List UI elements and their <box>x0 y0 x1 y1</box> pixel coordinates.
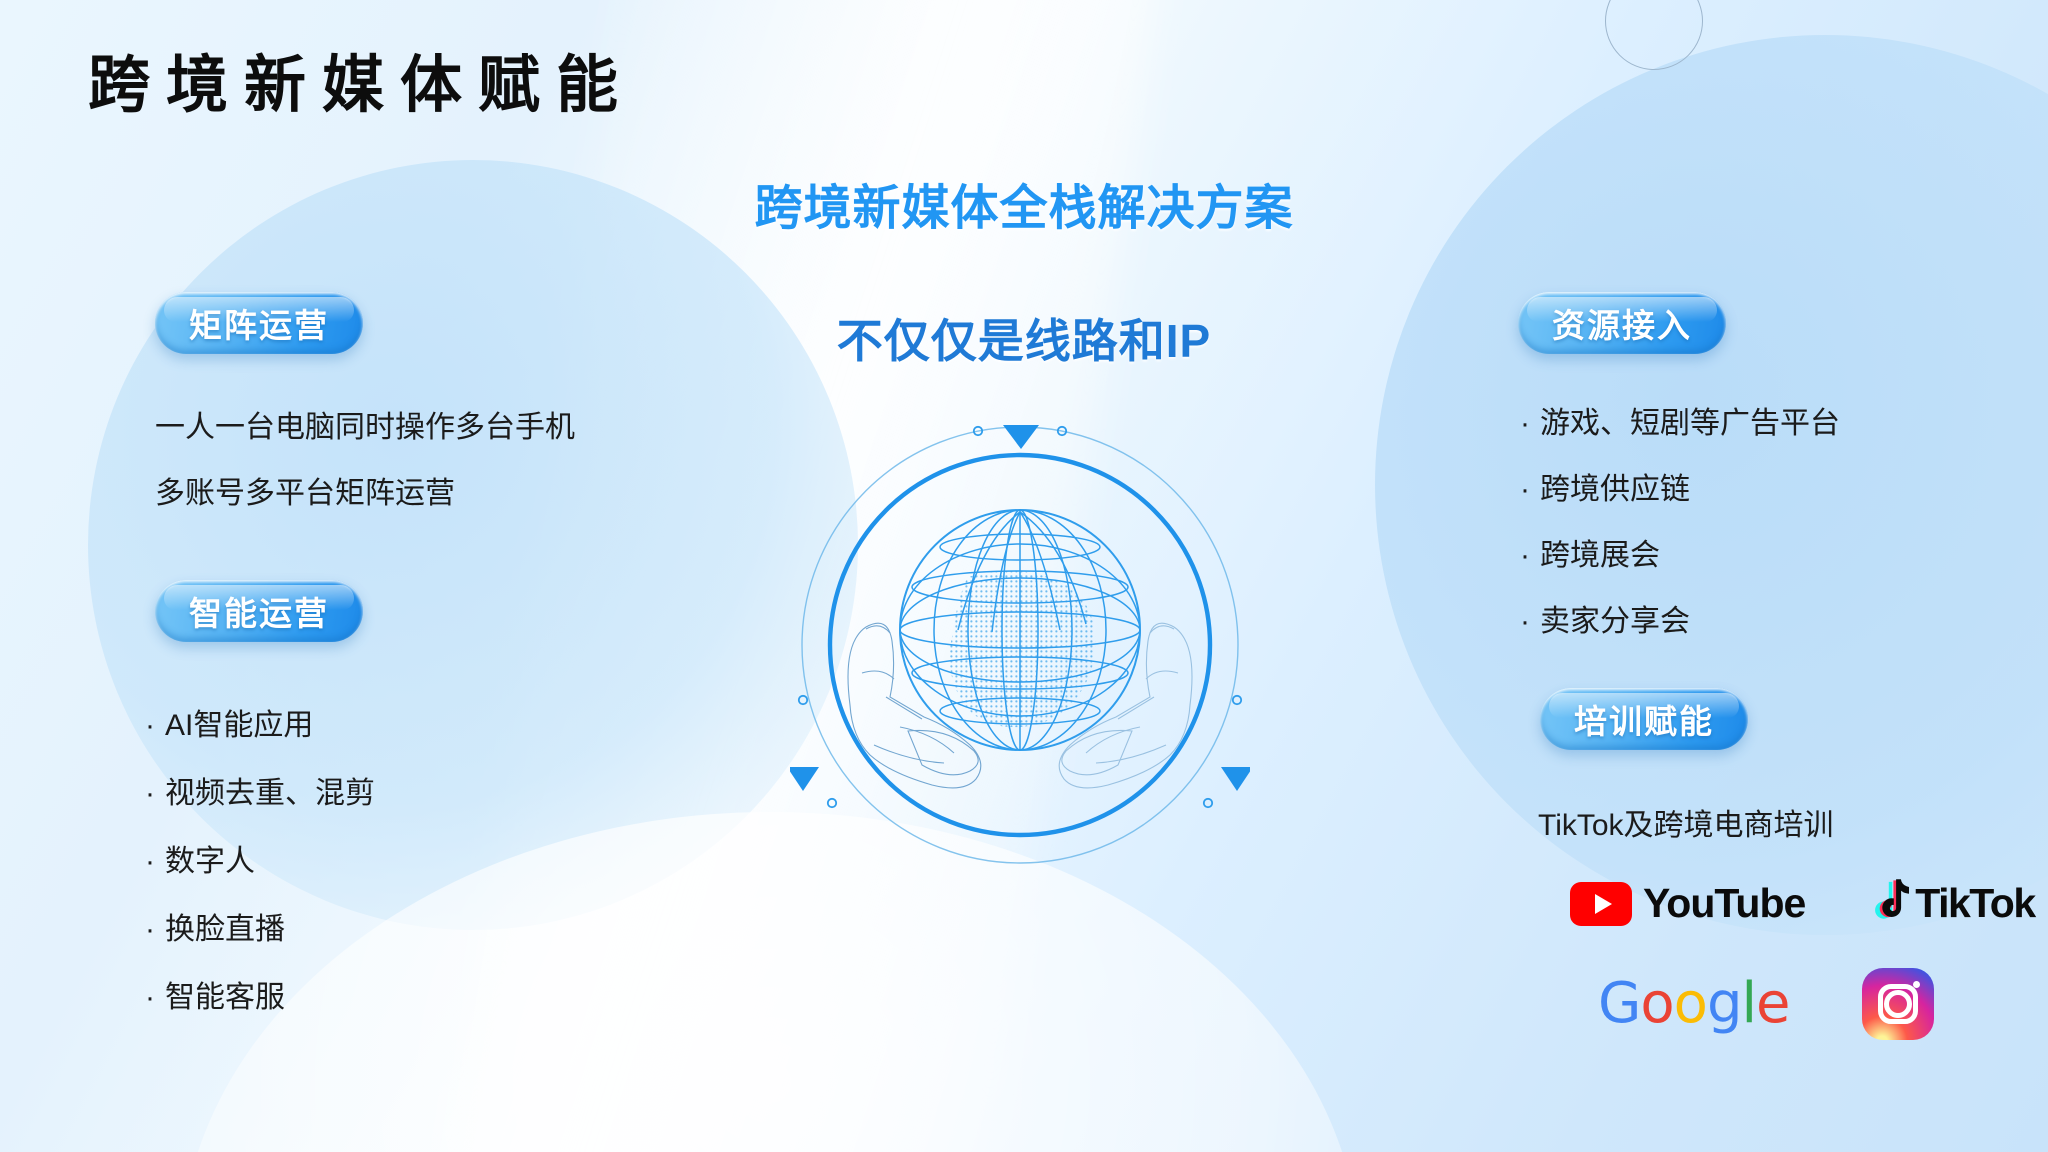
left-bullet-4: ·换脸直播 <box>145 904 285 948</box>
left-bullet-2-label: 视频去重、混剪 <box>165 777 375 810</box>
google-letter-e: e <box>1756 971 1789 1036</box>
right-bullet-1-label: 游戏、短剧等广告平台 <box>1540 407 1840 440</box>
youtube-logo[interactable]: YouTube <box>1570 880 1805 927</box>
left-bullet-3: ·数字人 <box>145 836 255 880</box>
page-title: 跨境新媒体赋能 <box>88 55 634 117</box>
youtube-play-icon <box>1570 882 1632 926</box>
tiktok-logo[interactable]: TikTok <box>1869 878 2034 929</box>
left-s1-line-1: 一人一台电脑同时操作多台手机 <box>155 402 575 446</box>
center-heading-secondary: 不仅仅是线路和IP <box>837 318 1211 364</box>
bullet-dot-icon: · <box>145 981 155 1014</box>
left-bullet-3-label: 数字人 <box>165 845 255 878</box>
tiktok-logo-label: TikTok <box>1915 880 2034 927</box>
right-bullet-2-label: 跨境供应链 <box>1540 473 1690 506</box>
right-bullet-3: ·跨境展会 <box>1520 530 1660 574</box>
instagram-logo[interactable] <box>1862 968 1934 1040</box>
right-bullet-2: ·跨境供应链 <box>1520 464 1690 508</box>
instagram-camera-icon <box>1878 984 1918 1024</box>
pill-matrix-operation[interactable]: 矩阵运营 <box>155 292 363 354</box>
left-bullet-5-label: 智能客服 <box>165 981 285 1014</box>
bullet-dot-icon: · <box>1520 539 1530 572</box>
center-heading-primary: 跨境新媒体全栈解决方案 <box>754 185 1293 233</box>
left-bullet-5: ·智能客服 <box>145 972 285 1016</box>
right-s2-line-1: TikTok及跨境电商培训 <box>1538 800 1834 844</box>
google-logo[interactable]: Google <box>1598 976 1790 1032</box>
left-bullet-4-label: 换脸直播 <box>165 913 285 946</box>
google-letter-g1: G <box>1598 971 1640 1036</box>
youtube-logo-label: YouTube <box>1643 880 1805 927</box>
globe-svg <box>790 415 1250 875</box>
globe-in-hands-illustration <box>790 415 1250 875</box>
left-bullet-2: ·视频去重、混剪 <box>145 768 375 812</box>
google-letter-g2: g <box>1707 971 1742 1036</box>
right-bullet-1: ·游戏、短剧等广告平台 <box>1520 398 1840 442</box>
bullet-dot-icon: · <box>1520 407 1530 440</box>
bullet-dot-icon: · <box>145 709 155 742</box>
google-letter-l: l <box>1741 971 1756 1036</box>
tiktok-note-icon <box>1869 878 1909 929</box>
pill-smart-operation[interactable]: 智能运营 <box>155 580 363 642</box>
bullet-dot-icon: · <box>145 913 155 946</box>
right-bullet-4-label: 卖家分享会 <box>1540 605 1690 638</box>
left-bullet-1: ·AI智能应用 <box>145 700 313 744</box>
instagram-dot-icon <box>1913 981 1920 988</box>
right-bullet-4: ·卖家分享会 <box>1520 596 1690 640</box>
left-s1-line-2: 多账号多平台矩阵运营 <box>155 468 455 512</box>
right-bullet-3-label: 跨境展会 <box>1540 539 1660 572</box>
logo-row-top: YouTube TikTok <box>1570 878 2035 929</box>
google-letter-o2: o <box>1674 971 1707 1036</box>
logo-row-bottom: Google <box>1598 968 1934 1040</box>
google-letter-o1: o <box>1640 971 1673 1036</box>
left-bullet-1-label: AI智能应用 <box>165 709 313 742</box>
pill-resource-access[interactable]: 资源接入 <box>1518 292 1726 354</box>
bullet-dot-icon: · <box>1520 473 1530 506</box>
bullet-dot-icon: · <box>1520 605 1530 638</box>
pill-training-empowerment[interactable]: 培训赋能 <box>1540 688 1748 750</box>
bullet-dot-icon: · <box>145 845 155 878</box>
bullet-dot-icon: · <box>145 777 155 810</box>
